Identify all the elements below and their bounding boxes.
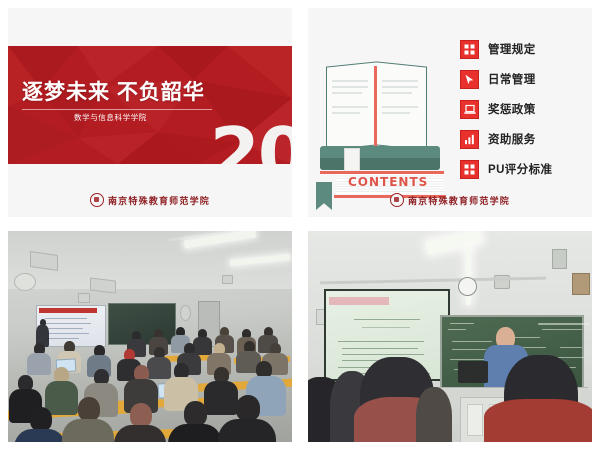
wall-fan-icon — [180, 305, 191, 321]
university-logo: 南京特殊教育师范学院 — [8, 193, 292, 207]
wall-clock-icon — [458, 277, 477, 296]
projector-unit — [458, 361, 488, 383]
light-stem — [466, 247, 471, 305]
bar-chart-icon — [460, 130, 479, 149]
quadrant-lecture-photo — [300, 225, 600, 450]
quadrant-classroom-photo — [0, 225, 300, 450]
contents-label: CONTENTS — [348, 175, 428, 189]
grid-squares-icon — [460, 40, 479, 59]
wall-fan-icon — [14, 273, 36, 291]
wall-speaker — [552, 249, 567, 269]
contents-list: 管理规定 日常管理 奖惩政策 — [460, 34, 592, 184]
screen-title-bar — [329, 297, 389, 305]
contents-slide: CONTENTS 管理规定 日常管理 — [308, 8, 592, 217]
audience-shoulders — [484, 399, 592, 442]
contents-item-label: 管理规定 — [488, 41, 536, 57]
university-seal-icon — [90, 193, 104, 207]
wall-sensor — [222, 275, 233, 284]
contents-item-2[interactable]: 日常管理 — [460, 64, 592, 94]
laptop-icon — [460, 100, 479, 119]
collage-grid: 20 逐梦未来 不负韶华 数学与信息科学学院 南京特殊教育师范学院 — [0, 0, 600, 450]
screen-title-bar — [39, 308, 97, 313]
contents-item-1[interactable]: 管理规定 — [460, 34, 592, 64]
university-name: 南京特殊教育师范学院 — [108, 194, 210, 207]
contents-item-5[interactable]: PU评分标准 — [460, 154, 592, 184]
slide-heading: 逐梦未来 不负韶华 — [22, 76, 205, 106]
book-cover-shadow — [320, 158, 440, 170]
title-band: 20 逐梦未来 不负韶华 数学与信息科学学院 — [8, 46, 292, 164]
university-name: 南京特殊教育师范学院 — [408, 194, 510, 207]
classroom-audience-photo — [8, 231, 292, 442]
contents-item-label: 资助服务 — [488, 131, 536, 147]
contents-item-4[interactable]: 资助服务 — [460, 124, 592, 154]
contents-item-label: PU评分标准 — [488, 161, 552, 177]
contents-item-label: 奖惩政策 — [488, 101, 536, 117]
book-bookmark-tab — [344, 148, 360, 172]
quadrant-contents-slide: CONTENTS 管理规定 日常管理 — [300, 0, 600, 225]
cursor-arrow-icon — [460, 70, 479, 89]
audience-head — [416, 387, 452, 442]
lecturer-blackboard-photo — [308, 231, 592, 442]
book-spine — [374, 66, 377, 146]
contents-item-label: 日常管理 — [488, 71, 536, 87]
wall-panel — [572, 273, 590, 295]
book-illustration-icon: CONTENTS — [326, 54, 434, 182]
year-watermark: 20 — [210, 118, 292, 164]
contents-item-3[interactable]: 奖惩政策 — [460, 94, 592, 124]
title-slide: 20 逐梦未来 不负韶华 数学与信息科学学院 南京特殊教育师范学院 — [8, 8, 292, 217]
grid-squares-icon — [460, 160, 479, 179]
university-seal-icon — [390, 193, 404, 207]
slide-subheading: 数学与信息科学学院 — [74, 112, 147, 123]
quadrant-title-slide: 20 逐梦未来 不负韶华 数学与信息科学学院 南京特殊教育师范学院 — [0, 0, 300, 225]
heading-divider — [22, 109, 212, 110]
university-logo: 南京特殊教育师范学院 — [308, 193, 592, 207]
